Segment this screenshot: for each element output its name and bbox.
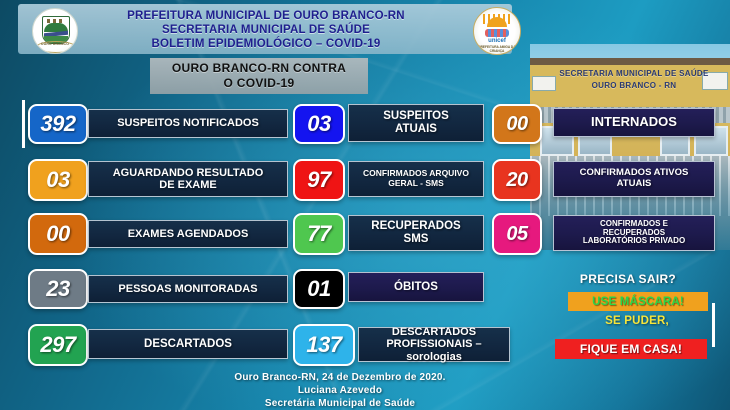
footer-signature: Ouro Branco-RN, 24 de Dezembro de 2020. … xyxy=(150,371,530,410)
stat-label-line: PESSOAS MONITORADAS xyxy=(118,283,257,295)
right-accent-bar xyxy=(712,303,715,347)
footer-line-2: Luciana Azevedo xyxy=(150,384,530,397)
stat-value-box: 03 xyxy=(28,159,88,201)
fique-em-casa-banner: FIQUE EM CASA! xyxy=(555,339,707,359)
stat-label-box: SUSPEITOS NOTIFICADOS xyxy=(88,109,288,138)
stat-label-box: INTERNADOS xyxy=(553,108,715,137)
stat-label-line: LABORATÓRIOS PRIVADO xyxy=(583,237,685,246)
city-crest-icon: OURO BRANCO xyxy=(32,8,78,54)
stat-value-box: 20 xyxy=(492,159,542,201)
stat-label-line: AGUARDANDO RESULTADO xyxy=(113,167,264,179)
stat-label-box: AGUARDANDO RESULTADODE EXAME xyxy=(88,161,288,197)
stat-label-line: ATUAIS xyxy=(580,179,689,190)
stat-label-line: SUSPEITOS NOTIFICADOS xyxy=(117,117,259,129)
crest-ribbon-text: OURO BRANCO xyxy=(33,42,77,46)
stat-label-line: GERAL - SMS xyxy=(363,179,469,189)
stat-label-line: DESCARTADOS xyxy=(359,326,509,338)
stat-label-box: PESSOAS MONITORADAS xyxy=(88,275,288,303)
stat-label-box: CONFIRMADOS ERECUPERADOSLABORATÓRIOS PRI… xyxy=(553,215,715,251)
crest-shield-shape xyxy=(42,16,70,44)
stat-value-box: 05 xyxy=(492,213,542,255)
stat-value-box: 00 xyxy=(28,213,88,255)
building-sign-line1: SECRETARIA MUNICIPAL DE SAÚDE xyxy=(548,68,720,80)
unicef-seal-icon: unicef PREFEITURA AMIGA DA CRIANÇA xyxy=(473,7,521,55)
stat-value-box: 297 xyxy=(28,324,88,366)
stat-value-box: 392 xyxy=(28,104,88,144)
stat-label-box: DESCARTADOSPROFISSIONAIS – sorologias xyxy=(358,327,510,362)
stat-value-box: 77 xyxy=(293,213,345,255)
unicef-label: unicef xyxy=(474,38,520,44)
stat-value-box: 97 xyxy=(293,159,345,201)
stat-label-box: CONFIRMADOS ATIVOSATUAIS xyxy=(553,161,715,197)
unicef-sublabel: PREFEITURA AMIGA DA CRIANÇA xyxy=(474,45,520,53)
stat-label-line: SUSPEITOS xyxy=(383,110,449,123)
stat-label-box: ÓBITOS xyxy=(348,272,484,302)
se-puder-text: SE PUDER, xyxy=(566,315,708,327)
stat-label-line: RECUPERADOS xyxy=(371,220,460,233)
stat-label-box: CONFIRMADOS ARQUIVOGERAL - SMS xyxy=(348,161,484,197)
stat-label-line: PROFISSIONAIS – sorologias xyxy=(359,338,509,363)
unicef-people-shape xyxy=(485,29,509,37)
wall-shape xyxy=(530,65,730,107)
footer-line-3: Secretária Municipal de Saúde xyxy=(150,397,530,410)
subtitle-line-2: O COVID-19 xyxy=(172,76,346,91)
stat-label-box: EXAMES AGENDADOS xyxy=(88,220,288,248)
stat-label-box: RECUPERADOSSMS xyxy=(348,215,484,251)
stat-label-line: ATUAIS xyxy=(383,123,449,136)
stat-value-box: 23 xyxy=(28,269,88,309)
stat-label-line: DE EXAME xyxy=(113,179,264,191)
roof-shape xyxy=(530,58,730,65)
footer-line-1: Ouro Branco-RN, 24 de Dezembro de 2020. xyxy=(150,371,530,384)
stat-label-box: DESCARTADOS xyxy=(88,329,288,359)
stat-label-line: DESCARTADOS xyxy=(144,338,232,351)
city-logo-icon xyxy=(702,72,728,90)
stat-value-box: 01 xyxy=(293,269,345,309)
subtitle-line-1: OURO BRANCO-RN CONTRA xyxy=(172,61,346,76)
precisa-sair-title: PRECISA SAIR? xyxy=(548,272,708,286)
title-line-2: SECRETARIA MUNICIPAL DE SAÚDE xyxy=(80,23,452,37)
building-sign-text: SECRETARIA MUNICIPAL DE SAÚDE OURO BRANC… xyxy=(548,68,720,102)
title-line-3: BOLETIM EPIDEMIOLÓGICO – COVID-19 xyxy=(80,37,452,51)
left-accent-bar xyxy=(22,100,25,148)
stat-value-box: 137 xyxy=(293,324,355,366)
bulletin-infographic: SECRETARIA MUNICIPAL DE SAÚDE OURO BRANC… xyxy=(0,0,730,410)
page-title: PREFEITURA MUNICIPAL DE OURO BRANCO-RN S… xyxy=(80,9,452,51)
stat-label-line: INTERNADOS xyxy=(591,115,677,130)
stat-label-line: SMS xyxy=(371,233,460,246)
campaign-subtitle: OURO BRANCO-RN CONTRA O COVID-19 xyxy=(150,58,368,94)
building-sign-line2: OURO BRANCO - RN xyxy=(548,80,720,92)
header-banner: OURO BRANCO PREFEITURA MUNICIPAL DE OURO… xyxy=(18,4,512,54)
stat-label-line: EXAMES AGENDADOS xyxy=(128,228,249,240)
stat-value-box: 00 xyxy=(492,104,542,144)
stat-label-line: ÓBITOS xyxy=(394,281,438,294)
use-mask-banner: USE MÁSCARA! xyxy=(568,292,708,311)
stat-label-box: SUSPEITOSATUAIS xyxy=(348,104,484,142)
title-line-1: PREFEITURA MUNICIPAL DE OURO BRANCO-RN xyxy=(80,9,452,23)
sus-logo-icon xyxy=(532,76,556,91)
stat-value-box: 03 xyxy=(293,104,345,144)
